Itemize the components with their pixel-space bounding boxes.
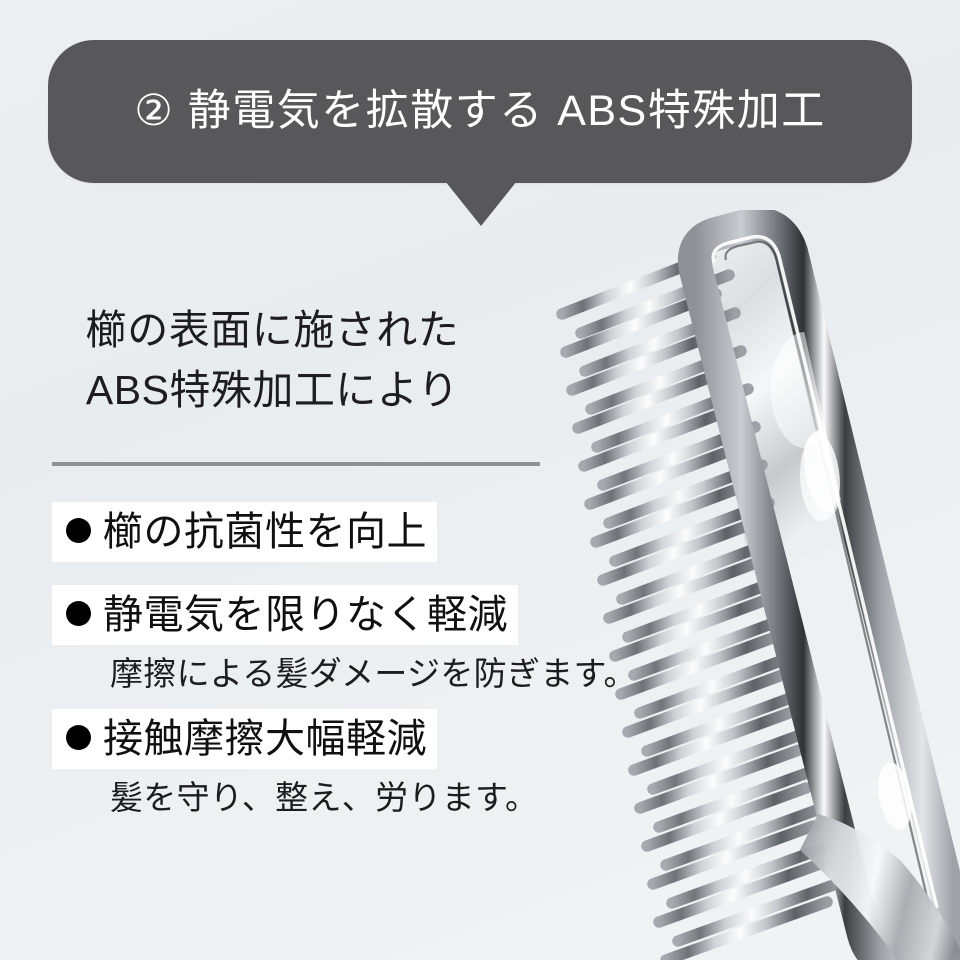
spacer (52, 690, 692, 709)
benefit-text-2: 静電気を限りなく軽減 (103, 593, 508, 637)
benefit-text-3: 接触摩擦大幅軽減 (103, 717, 427, 761)
list-item: 静電気を限りなく軽減 摩擦による髪ダメージを防ぎます。 (52, 585, 692, 690)
section-banner: ② 静電気を拡散する ABS特殊加工 (48, 40, 912, 183)
headline-divider (52, 462, 540, 466)
bullet-dot-icon (66, 601, 91, 626)
bullet-dot-icon (66, 725, 91, 750)
benefit-label-3: 接触摩擦大幅軽減 (52, 709, 437, 769)
benefit-label-1: 櫛の抗菌性を向上 (52, 502, 437, 562)
headline-line-2: ABS特殊加工により (0, 360, 545, 420)
banner-title: ② 静電気を拡散する ABS特殊加工 (134, 90, 825, 133)
list-item: 櫛の抗菌性を向上 (52, 502, 692, 562)
benefit-list: 櫛の抗菌性を向上 静電気を限りなく軽減 摩擦による髪ダメージを防ぎます。 接触摩… (52, 502, 692, 814)
benefit-label-2: 静電気を限りなく軽減 (52, 585, 518, 645)
bullet-dot-icon (66, 518, 91, 543)
promo-page: ② 静電気を拡散する ABS特殊加工 櫛の表面に施された ABS特殊加工により … (0, 0, 960, 960)
benefit-text-1: 櫛の抗菌性を向上 (103, 510, 427, 554)
banner-pointer-icon (445, 181, 517, 226)
headline: 櫛の表面に施された ABS特殊加工により (0, 300, 545, 421)
copy-column: 櫛の表面に施された ABS特殊加工により 櫛の抗菌性を向上 静電気を限りなく軽減… (0, 300, 570, 421)
benefit-sub-3: 髪を守り、整え、労ります。 (52, 769, 692, 814)
spacer (52, 562, 692, 585)
benefit-sub-2: 摩擦による髪ダメージを防ぎます。 (52, 645, 692, 690)
list-item: 接触摩擦大幅軽減 髪を守り、整え、労ります。 (52, 709, 692, 814)
headline-line-1: 櫛の表面に施された (0, 300, 545, 360)
